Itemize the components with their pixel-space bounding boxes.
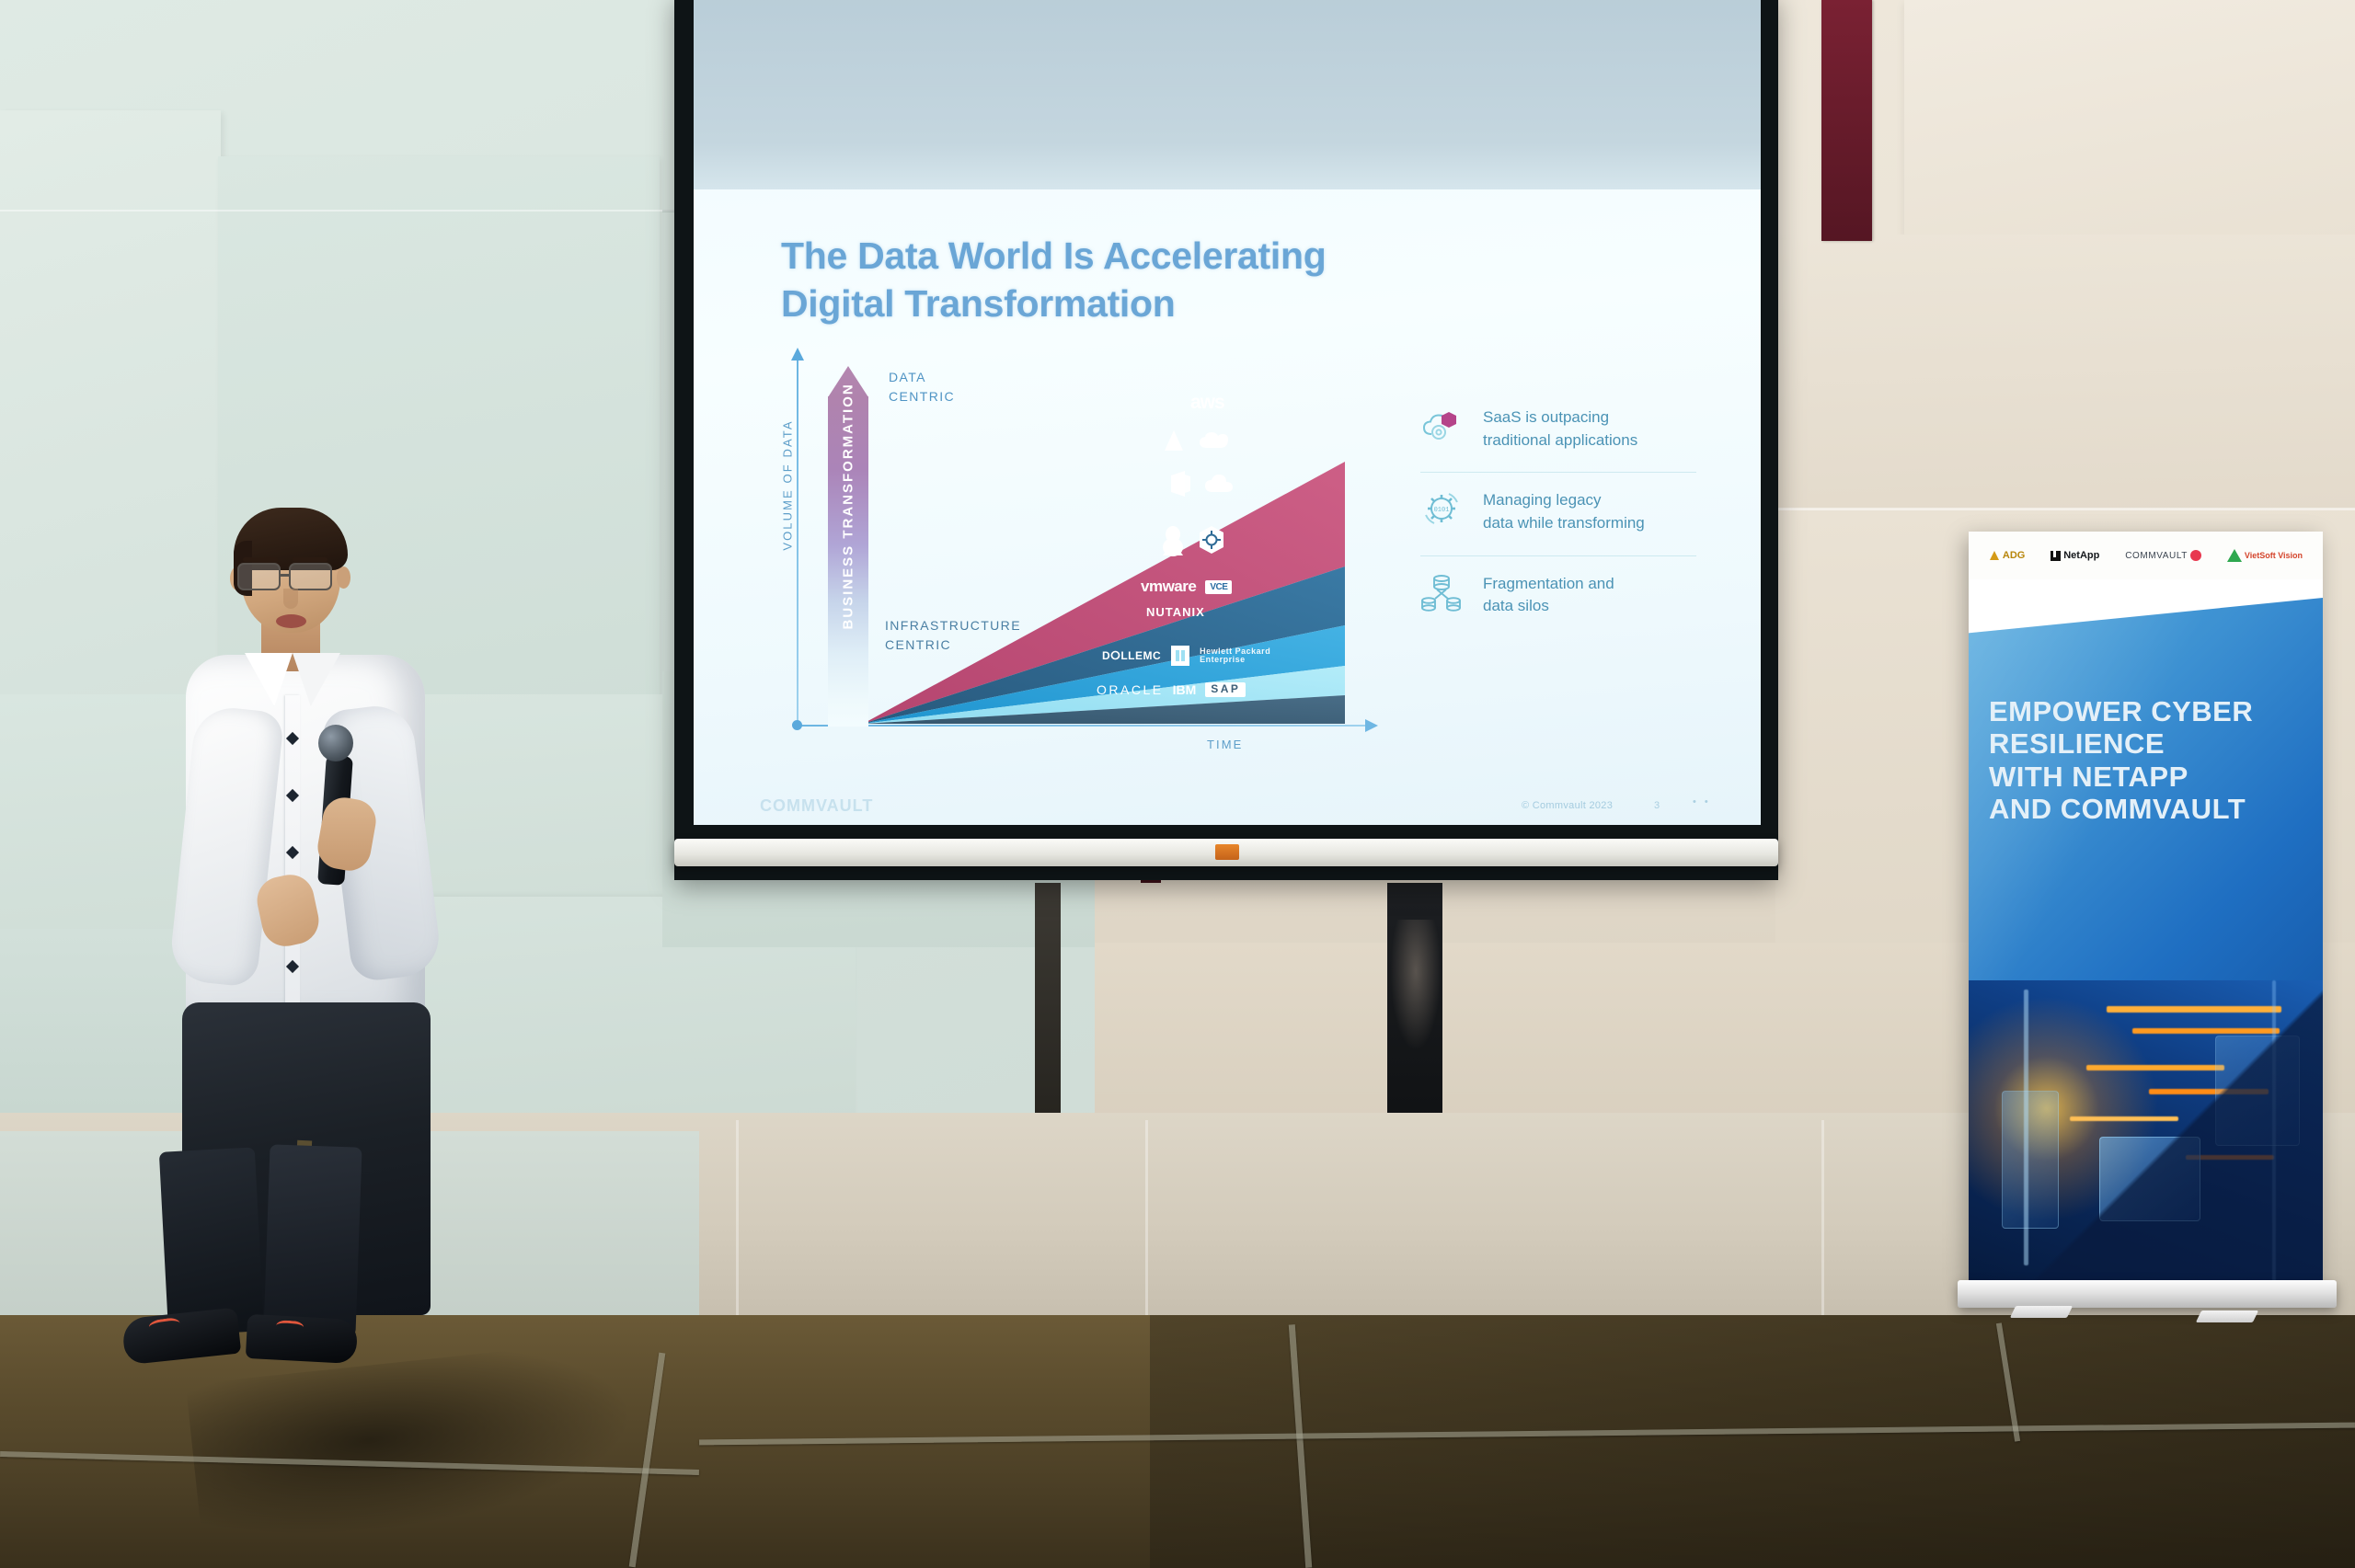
slide-title-line-1: The Data World Is Accelerating [781, 232, 1407, 280]
kubernetes-icon [1196, 524, 1227, 555]
nutanix-wordmark: NUTANIX [1146, 605, 1205, 619]
eyeglasses-icon [235, 563, 346, 590]
stage-wall-seam [1145, 1120, 1148, 1327]
bullet-text: Managing legacy data while transforming [1483, 487, 1645, 534]
sap-wordmark: SAP [1205, 682, 1246, 696]
banner-foot [2196, 1310, 2258, 1322]
presenter-left-leg [159, 1147, 264, 1335]
screen-brand-badge [1215, 844, 1239, 860]
eyeglass-bridge [281, 574, 291, 577]
commvault-mark-icon [2190, 550, 2201, 561]
banner-headline: EMPOWER CYBER RESILIENCE WITH NETAPP AND… [1989, 695, 2306, 825]
google-cloud-icon [1201, 470, 1236, 498]
microphone-head-icon [318, 725, 353, 761]
slide-title-line-2: Digital Transformation [781, 280, 1407, 327]
salesforce-icon [1198, 429, 1238, 453]
saas-cloud-icon [1420, 405, 1463, 447]
presenter-eyebrow [293, 557, 327, 562]
hpe-wordmark: Hewlett Packard Enterprise [1200, 647, 1288, 665]
wall-seam [1775, 508, 2355, 510]
bullet-line-2: data silos [1483, 595, 1614, 618]
bullet-text: Fragmentation and data silos [1483, 571, 1614, 618]
banner-headline-line-3: WITH NETAPP [1989, 761, 2306, 793]
vce-wordmark: VCE [1205, 580, 1232, 594]
logo-row-vmware-vce: vmware VCE [1141, 578, 1232, 596]
logo-row-linux-kubernetes [1159, 522, 1227, 557]
chart-y-axis [797, 359, 798, 727]
slide-footer-copyright: © Commvault 2023 [1522, 800, 1613, 811]
wall-recess [1035, 883, 1061, 1124]
presenter-right-shoe [246, 1314, 358, 1364]
stage-wall-seam [736, 1120, 739, 1327]
zone-label-line-1: DATA [889, 368, 955, 387]
rollup-banner: ADG NetApp COMMVAULT VietSoft Vision EMP… [1969, 532, 2323, 1286]
commvault-logo: COMMVAULT [2125, 550, 2201, 561]
chart-x-axis [797, 725, 1367, 727]
chart-x-axis-label: TIME [1207, 738, 1243, 751]
office365-icon [1168, 469, 1192, 498]
chart-y-axis-label: VOLUME OF DATA [781, 412, 795, 559]
arrow-label: BUSINESS TRANSFORMATION [841, 391, 856, 630]
bullet-text: SaaS is outpacing traditional applicatio… [1483, 405, 1637, 452]
bullet-item: Fragmentation and data silos [1420, 555, 1696, 638]
bullet-line-2: traditional applications [1483, 429, 1637, 452]
eyeglass-lens [289, 563, 332, 590]
zone-label-infrastructure-centric: INFRASTRUCTURE CENTRIC [885, 616, 1021, 655]
bullet-line-1: Fragmentation and [1483, 573, 1614, 596]
stage-floor-shadow [1150, 1315, 2355, 1568]
aws-wordmark: aws [1190, 392, 1224, 414]
netapp-logo: NetApp [2051, 550, 2099, 561]
presenter-nose [283, 589, 298, 609]
azure-icon [1161, 429, 1189, 454]
vietsoft-mark-icon [2227, 549, 2242, 562]
vietsoft-wordmark: VietSoft Vision [2245, 551, 2303, 560]
banner-headline-line-1: EMPOWER CYBER [1989, 695, 2306, 727]
chart-area: VOLUME OF DATA TIME BUSINESS TRANSFORMAT… [775, 359, 1382, 754]
hpe-mark-icon [1170, 644, 1190, 668]
slide-footer-page-number: 3 [1654, 800, 1660, 811]
oracle-wordmark: ORACLE [1097, 682, 1164, 697]
banner-headline-line-2: RESILIENCE [1989, 727, 2306, 760]
slide-footer-nav-dots: • • [1693, 796, 1711, 807]
logo-row-oracle-ibm-sap: ORACLE IBM SAP [1097, 682, 1246, 697]
wall-accent-stripe [1821, 0, 1872, 241]
commvault-wordmark: COMMVAULT [2125, 551, 2188, 561]
dell-emc-wordmark: DⵔLLEMC [1102, 649, 1161, 662]
bullet-line-2: data while transforming [1483, 512, 1645, 535]
zone-label-data-centric: DATA CENTRIC [889, 368, 955, 406]
chart-origin-dot [792, 720, 802, 730]
wall-recess-glow [1391, 920, 1441, 1048]
ibm-wordmark: IBM [1173, 682, 1197, 697]
bullet-line-1: SaaS is outpacing [1483, 406, 1637, 429]
adg-wordmark: ADG [2003, 550, 2025, 561]
stage-wall-seam [1821, 1120, 1824, 1327]
banner-headline-line-4: AND COMMVAULT [1989, 793, 2306, 825]
presenter-eyebrow [243, 557, 278, 562]
banner-base-bar [1958, 1280, 2337, 1308]
bullet-item: 0101 Managing legacy data while transfor… [1420, 472, 1696, 555]
wall-panel [1904, 0, 2355, 239]
logo-nutanix: NUTANIX [1146, 605, 1205, 619]
chart-x-axis-arrow [1365, 719, 1378, 732]
banner-artwork-shadow [1969, 980, 2323, 1286]
slide-content: The Data World Is Accelerating Digital T… [694, 197, 1761, 832]
banner-foot [2010, 1306, 2073, 1318]
vietsoft-vision-logo: VietSoft Vision [2227, 549, 2303, 562]
database-silo-icon [1420, 571, 1463, 613]
vmware-wordmark: vmware [1141, 578, 1196, 596]
slide-bullet-list: SaaS is outpacing traditional applicatio… [1420, 390, 1696, 638]
eyeglass-lens [237, 563, 281, 590]
presenter-mouth [276, 614, 306, 628]
presenter [138, 515, 506, 1343]
shoe-lace [275, 1320, 304, 1336]
business-transformation-arrow: BUSINESS TRANSFORMATION [828, 366, 868, 727]
adg-mark-icon [1989, 550, 2000, 561]
slide-title: The Data World Is Accelerating Digital T… [781, 232, 1407, 328]
bullet-item: SaaS is outpacing traditional applicatio… [1420, 390, 1696, 472]
adg-logo: ADG [1989, 550, 2025, 561]
bullet-line-1: Managing legacy [1483, 489, 1645, 512]
chart-y-axis-arrow [791, 348, 804, 361]
zone-label-line-1: INFRASTRUCTURE [885, 616, 1021, 635]
slide-footer-logo: COMMVAULT [760, 796, 873, 816]
banner-sponsor-logos: ADG NetApp COMMVAULT VietSoft Vision [1969, 532, 2323, 579]
logo-aws: aws [1190, 392, 1224, 414]
zone-label-line-2: CENTRIC [885, 635, 1021, 655]
zone-label-line-2: CENTRIC [889, 387, 955, 406]
svg-text:0101: 0101 [1434, 507, 1450, 514]
linux-tux-icon [1159, 522, 1187, 557]
netapp-wordmark: NetApp [2063, 550, 2099, 561]
logo-row-azure-salesforce [1161, 429, 1238, 454]
logo-row-dellemc-hpe: DⵔLLEMC Hewlett Packard Enterprise [1102, 644, 1288, 668]
gear-data-icon: 0101 [1420, 487, 1463, 530]
logo-row-office-gcloud [1168, 469, 1236, 498]
banner-white-gap [1969, 579, 2323, 603]
wall-panel [1775, 235, 2355, 510]
netapp-mark-icon [2051, 551, 2061, 561]
presenter-right-leg [263, 1144, 362, 1336]
